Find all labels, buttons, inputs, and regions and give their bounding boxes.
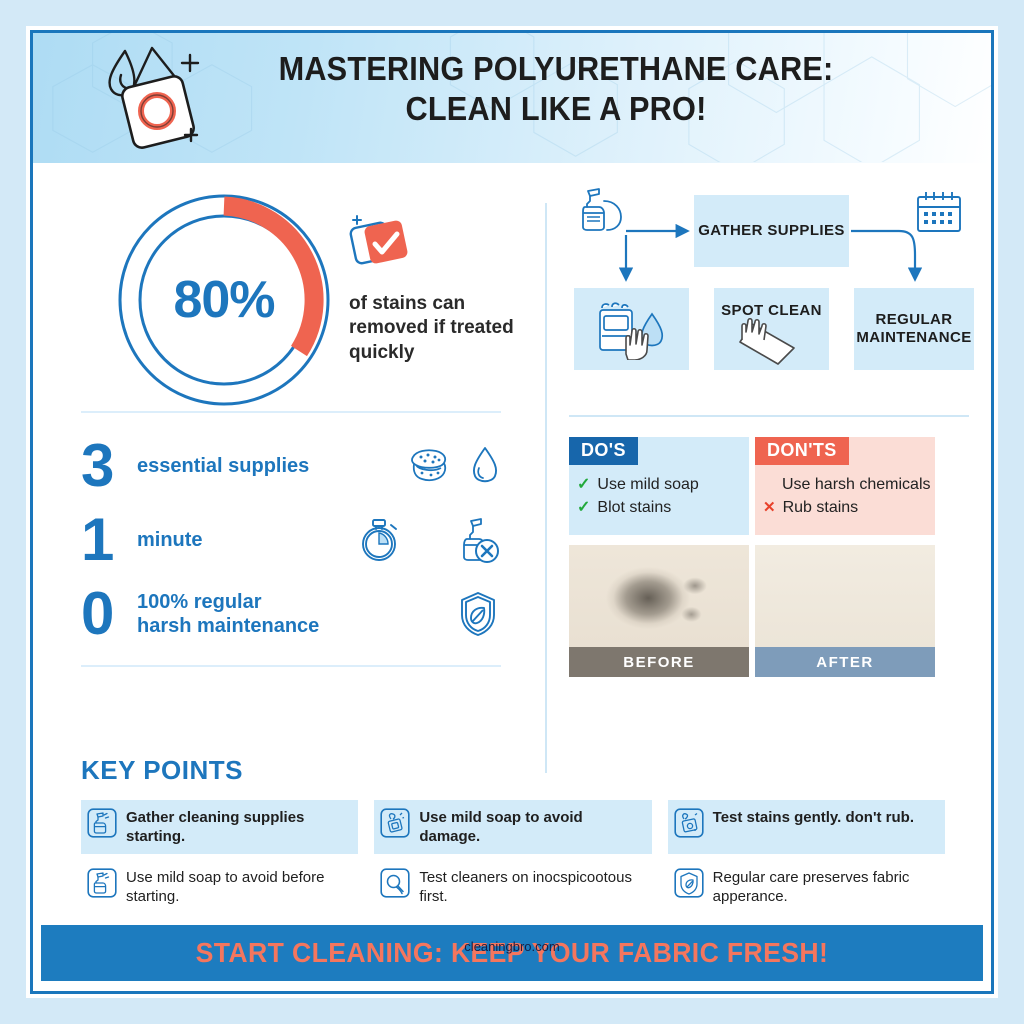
dos-heading: DO'S — [569, 437, 638, 465]
check-icon: ✓ — [577, 496, 590, 519]
stats-list: 3 essential supplies — [81, 411, 501, 667]
water-drop-icon — [469, 445, 501, 487]
stopwatch-icon — [357, 516, 403, 564]
eco-shield-icon — [674, 868, 704, 898]
key-point-text: Use mild soap to avoid damage. — [419, 808, 645, 846]
stat-label-line1: 100% regular — [137, 590, 319, 614]
donts-item-text: Rub stains — [783, 496, 859, 519]
after-photo-card: AFTER — [755, 545, 935, 677]
donut-caption-block: of stains can removed if treated quickly — [349, 213, 527, 365]
stain-test-icon — [674, 808, 704, 838]
stat-label: essential supplies — [137, 454, 309, 478]
spray-bottle-icon — [577, 187, 631, 233]
cross-icon: ✕ — [763, 497, 776, 519]
watermark: cleaningbro.com — [464, 939, 559, 954]
dos-donts-divider — [569, 415, 969, 417]
stat-number: 0 — [81, 584, 137, 644]
main-content: 80% of stains can removed if treated qui… — [33, 163, 991, 903]
key-points-grid: Gather cleaning supplies starting. Use m… — [81, 800, 945, 914]
check-icon: ✓ — [577, 473, 590, 496]
key-point-item: Use mild soap to avoid damage. — [374, 800, 651, 854]
stat-icons — [407, 445, 501, 487]
donts-item-text: Use harsh chemicals — [782, 473, 931, 496]
key-point-item: Regular care preserves fabric apperance. — [668, 860, 945, 914]
key-point-text: Regular care preserves fabric apperance. — [713, 868, 939, 906]
check-badge-icon — [349, 213, 411, 275]
footer-cta-banner[interactable]: START CLEANING: KEEP YOUR FABRIC FRESH! … — [41, 925, 983, 981]
donut-value-label: 80% — [115, 191, 333, 409]
calendar-icon — [914, 189, 964, 235]
dos-item-text: Blot stains — [597, 496, 671, 519]
stat-row-minute: 1 minute — [81, 503, 501, 577]
eco-shield-icon — [455, 589, 501, 639]
page-title: MASTERING POLYURETHANE CARE: CLEAN LIKE … — [237, 49, 875, 130]
key-points-title: KEY POINTS — [81, 755, 945, 786]
key-point-text: Gather cleaning supplies starting. — [126, 808, 352, 846]
no-spray-bottle-icon — [455, 515, 501, 565]
spray-bottle-icon — [87, 868, 117, 898]
soap-cloth-icon — [380, 808, 410, 838]
donts-item: Use harsh chemicals — [763, 473, 935, 496]
flow-box-gather-supplies: GATHER SUPPLIES — [694, 195, 849, 267]
dos-card: DO'S ✓ Use mild soap ✓ Blot stains — [569, 437, 749, 535]
stat-label: 100% regular harsh maintenance — [137, 590, 319, 638]
key-point-item: Gather cleaning supplies starting. — [81, 800, 358, 854]
magnifier-icon — [380, 868, 410, 898]
before-photo — [569, 545, 749, 647]
dos-list: ✓ Use mild soap ✓ Blot stains — [569, 465, 749, 519]
before-caption: BEFORE — [569, 647, 749, 677]
stat-label-line2: harsh maintenance — [137, 614, 319, 638]
key-point-item: Test cleaners on inocspicootous first. — [374, 860, 651, 914]
before-photo-card: BEFORE — [569, 545, 749, 677]
key-point-item: Test stains gently. don't rub. — [668, 800, 945, 854]
stat-row-supplies: 3 essential supplies — [81, 429, 501, 503]
stat-icons — [357, 515, 501, 565]
flow-box-regular-maintenance: REGULAR MAINTENANCE — [854, 288, 974, 370]
after-photo — [755, 545, 935, 647]
stat-number: 3 — [81, 436, 137, 496]
stat-icons — [455, 589, 501, 639]
key-point-text: Test cleaners on inocspicootous first. — [419, 868, 645, 906]
wiping-cloth-icon — [738, 318, 802, 366]
stats-divider-bottom — [81, 665, 501, 667]
key-point-text: Test stains gently. don't rub. — [713, 808, 914, 828]
detergent-glove-water-icon — [586, 298, 678, 360]
donts-item: ✕ Rub stains — [763, 496, 935, 519]
donts-card: DON'TS Use harsh chemicals ✕ Rub stains — [755, 437, 935, 535]
key-points-section: KEY POINTS Gather cleaning supplies star… — [81, 755, 945, 914]
donts-list: Use harsh chemicals ✕ Rub stains — [755, 465, 935, 519]
flow-box-spot-clean: SPOT CLEAN — [714, 288, 829, 370]
infographic-poster: MASTERING POLYURETHANE CARE: CLEAN LIKE … — [30, 30, 994, 994]
dos-item: ✓ Use mild soap — [577, 473, 749, 496]
key-point-item: Use mild soap to avoid before starting. — [81, 860, 358, 914]
spray-bottle-icon — [87, 808, 117, 838]
stats-divider-top — [81, 411, 501, 413]
donut-stat-block: 80% of stains can removed if treated qui… — [85, 191, 525, 401]
sponge-icon — [407, 446, 451, 486]
stat-row-maintenance: 0 100% regular harsh maintenance — [81, 577, 501, 651]
droplet-fabric-care-icon — [95, 41, 215, 157]
dos-item-text: Use mild soap — [597, 473, 698, 496]
after-caption: AFTER — [755, 647, 935, 677]
header-banner: MASTERING POLYURETHANE CARE: CLEAN LIKE … — [33, 33, 991, 163]
stat-number: 1 — [81, 510, 137, 570]
process-flow-diagram: GATHER SUPPLIES SPOT CLEAN REGULAR MAINT… — [569, 183, 989, 393]
dos-item: ✓ Blot stains — [577, 496, 749, 519]
donts-heading: DON'TS — [755, 437, 849, 465]
key-point-text: Use mild soap to avoid before starting. — [126, 868, 352, 906]
donut-caption: of stains can removed if treated quickly — [349, 292, 527, 365]
stat-label: minute — [137, 528, 203, 552]
flow-box-detergent — [574, 288, 689, 370]
